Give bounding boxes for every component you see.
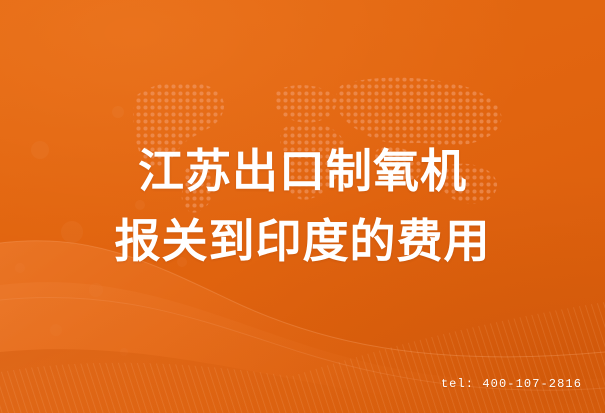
headline-line-2: 报关到印度的费用 xyxy=(0,206,605,276)
headline-line-1: 江苏出口制氧机 xyxy=(0,136,605,206)
promo-banner: 江苏出口制氧机 报关到印度的费用 tel: 400-107-2816 xyxy=(0,0,605,413)
headline: 江苏出口制氧机 报关到印度的费用 xyxy=(0,136,605,276)
contact-telephone: tel: 400-107-2816 xyxy=(441,377,582,391)
